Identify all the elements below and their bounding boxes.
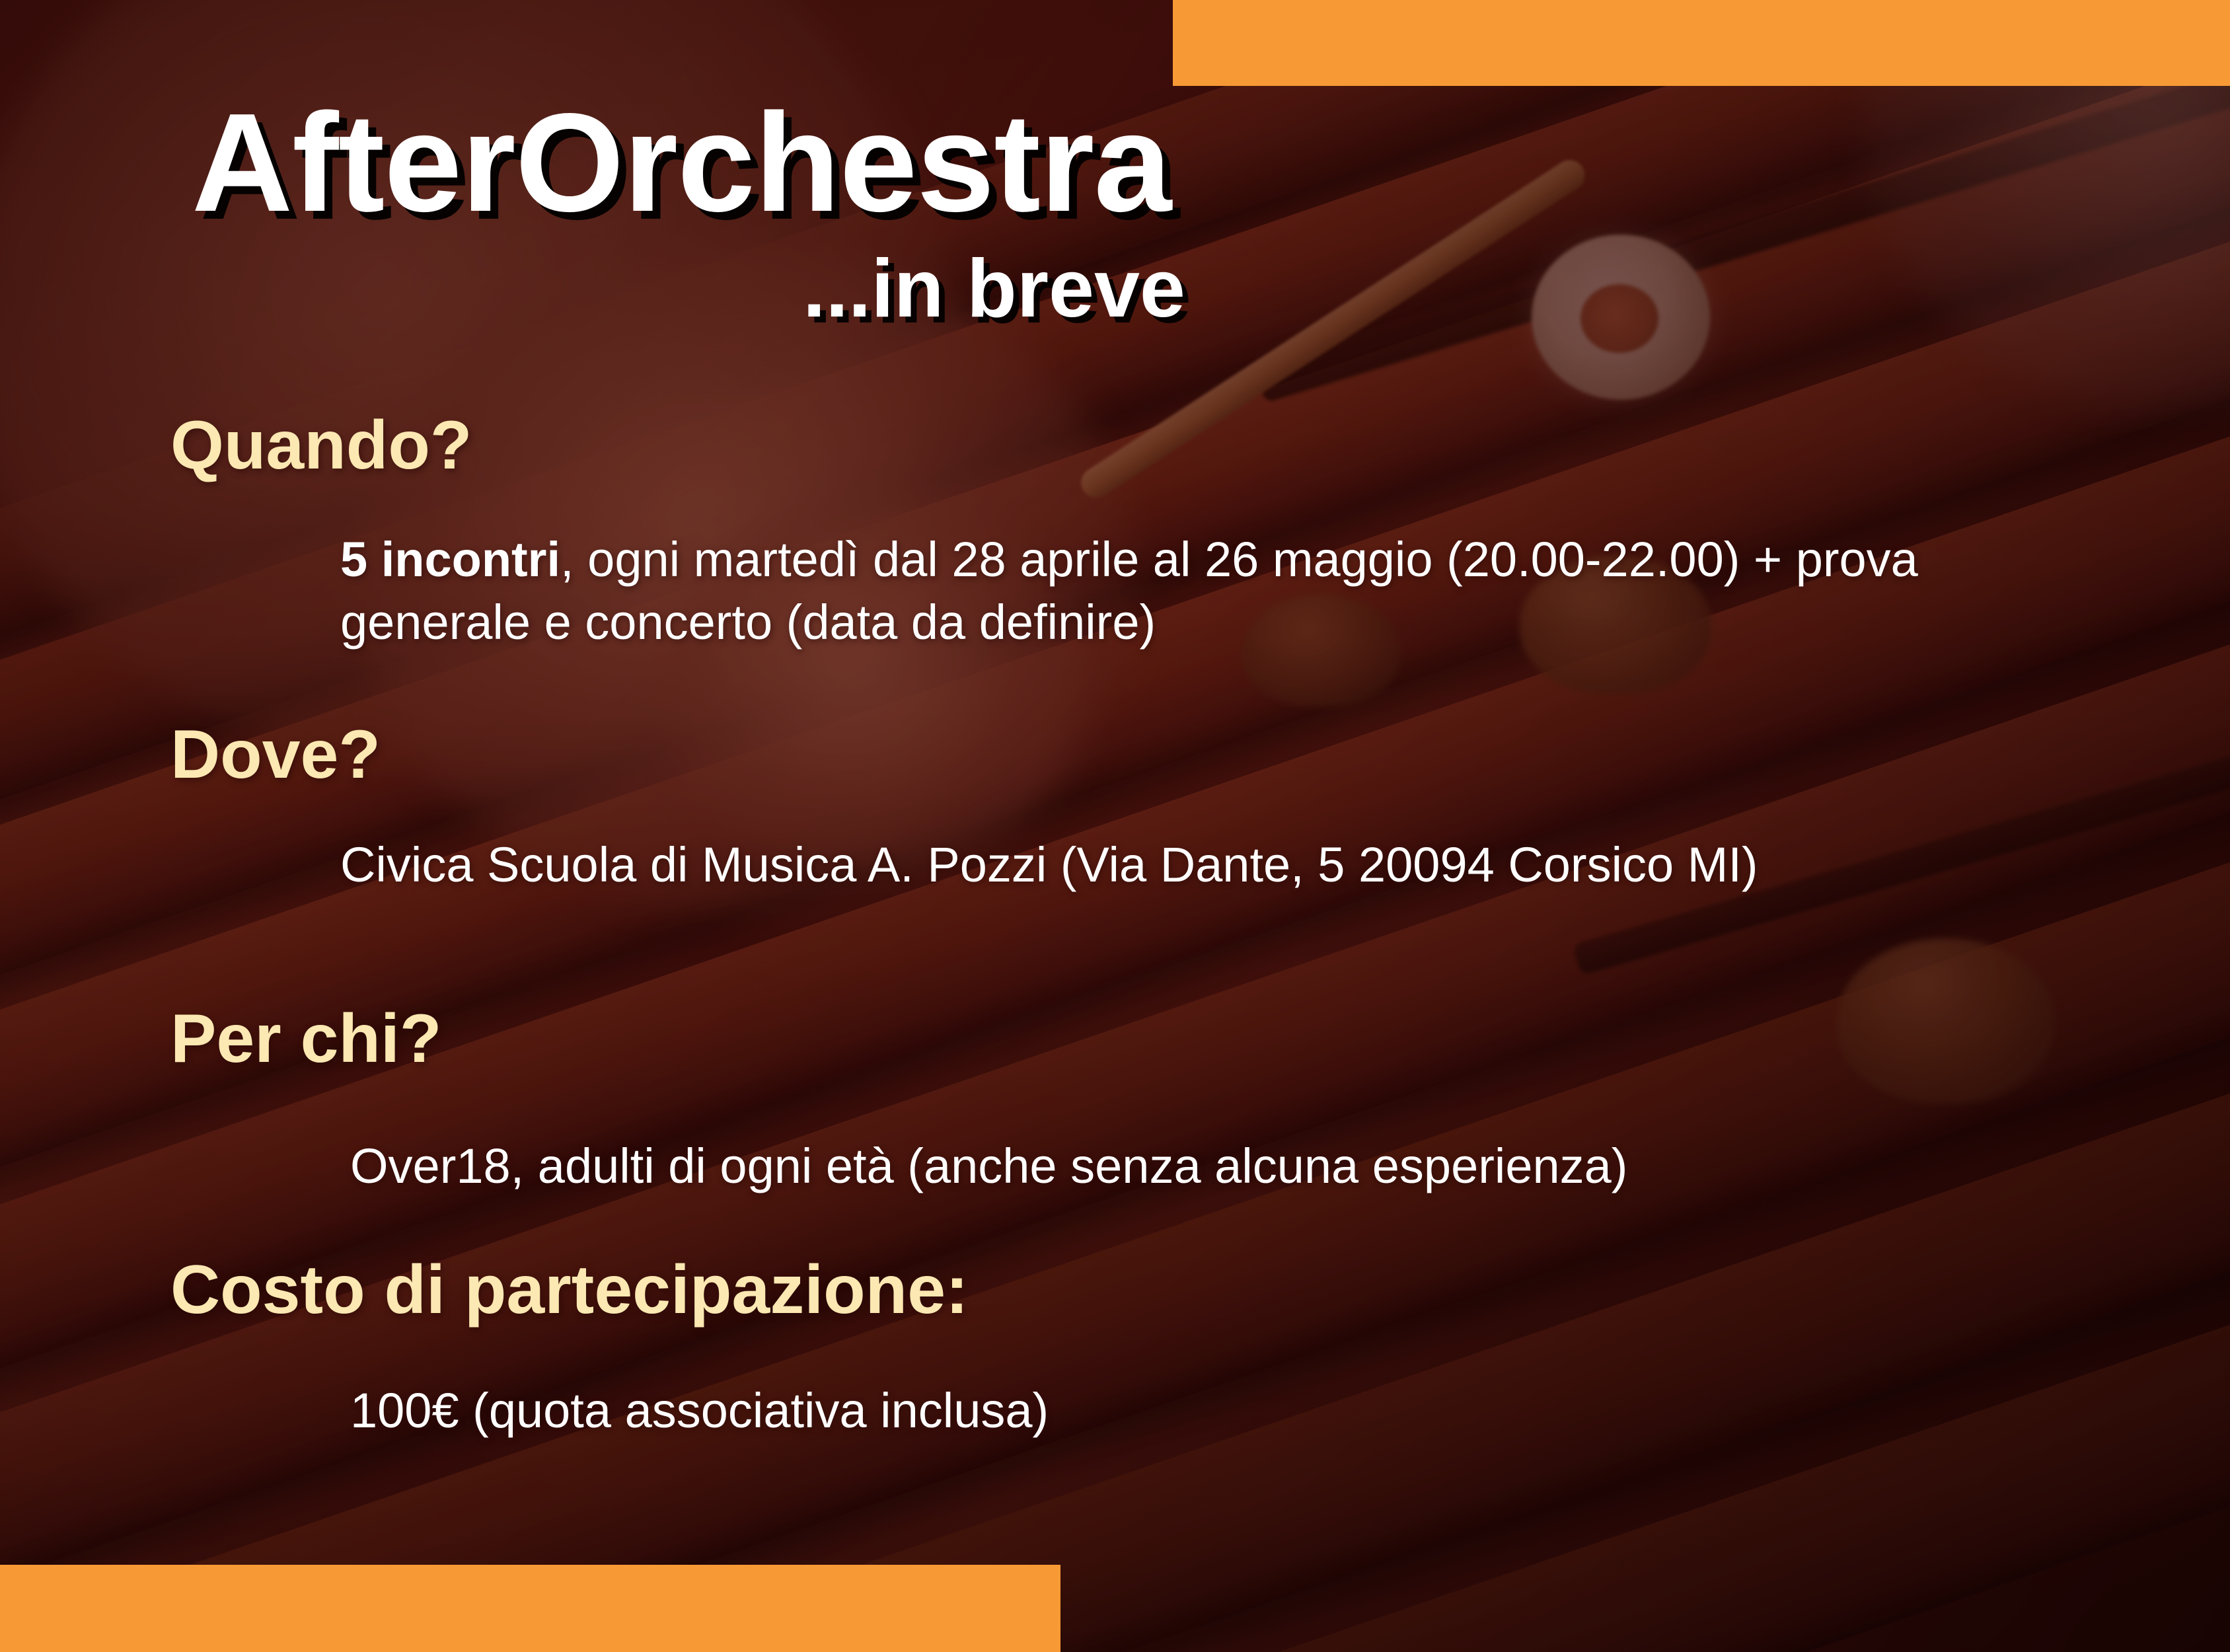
section-heading-costo: Costo di partecipazione: (170, 1256, 969, 1324)
section-heading-quando: Quando? (170, 411, 472, 480)
section-heading-dove: Dove? (170, 720, 381, 789)
section-body-per-chi: Over18, adulti di ogni età (anche senza … (350, 1135, 1627, 1198)
section-body-quando-bold: 5 incontri (340, 532, 560, 587)
slide-content: AfterOrchestra ...in breve Quando? 5 inc… (0, 0, 2230, 1652)
section-body-dove: Civica Scuola di Musica A. Pozzi (Via Da… (340, 834, 1758, 897)
section-body-quando-rest: , ogni martedì dal 28 aprile al 26 maggi… (340, 532, 1918, 650)
slide-subtitle: ...in breve (803, 248, 1185, 330)
section-body-quando: 5 incontri, ogni martedì dal 28 aprile a… (340, 529, 1959, 654)
slide: AfterOrchestra ...in breve Quando? 5 inc… (0, 0, 2230, 1652)
section-body-costo: 100€ (quota associativa inclusa) (350, 1380, 1049, 1443)
section-heading-per-chi: Per chi? (170, 1004, 441, 1073)
slide-title: AfterOrchestra (192, 93, 1171, 233)
